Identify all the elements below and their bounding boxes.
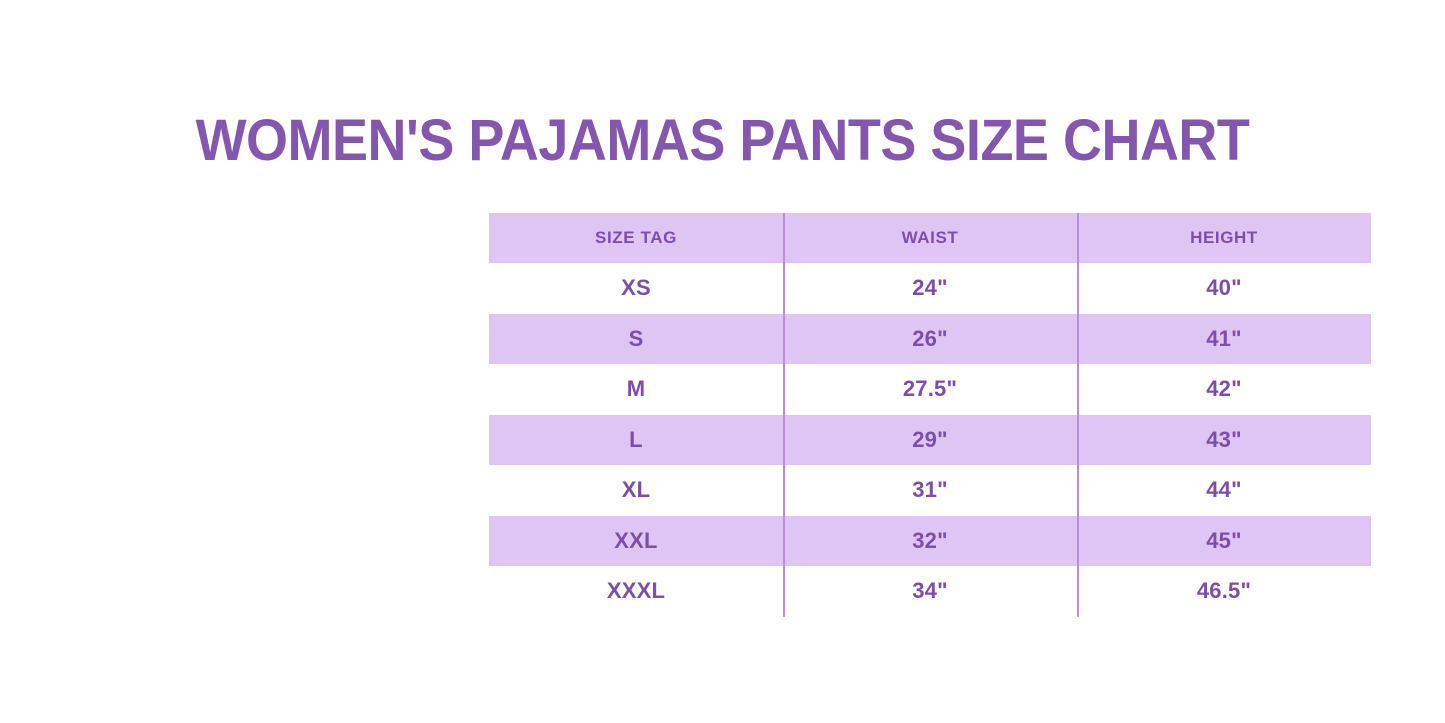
cell-waist: 34": [783, 566, 1077, 617]
cell-waist: 29": [783, 415, 1077, 466]
cell-height: 44": [1077, 465, 1371, 516]
cell-size-tag: L: [489, 415, 783, 466]
cell-waist: 27.5": [783, 364, 1077, 415]
cell-height: 40": [1077, 263, 1371, 314]
table-row: XS 24" 40": [489, 263, 1371, 314]
column-header-height: HEIGHT: [1077, 213, 1371, 263]
cell-waist: 26": [783, 314, 1077, 365]
column-header-size-tag: SIZE TAG: [489, 213, 783, 263]
cell-height: 42": [1077, 364, 1371, 415]
table-row: L 29" 43": [489, 415, 1371, 466]
cell-size-tag: XS: [489, 263, 783, 314]
size-chart-page: WOMEN'S PAJAMAS PANTS SIZE CHART SIZE TA…: [0, 0, 1445, 723]
cell-size-tag: XXL: [489, 516, 783, 567]
column-divider-right: [1077, 213, 1079, 617]
cell-size-tag: XXXL: [489, 566, 783, 617]
cell-size-tag: S: [489, 314, 783, 365]
cell-height: 41": [1077, 314, 1371, 365]
cell-height: 43": [1077, 415, 1371, 466]
table-row: XXL 32" 45": [489, 516, 1371, 567]
cell-height: 45": [1077, 516, 1371, 567]
column-header-waist: WAIST: [783, 213, 1077, 263]
cell-waist: 32": [783, 516, 1077, 567]
cell-waist: 24": [783, 263, 1077, 314]
table-row: XL 31" 44": [489, 465, 1371, 516]
cell-height: 46.5": [1077, 566, 1371, 617]
table-header-row: SIZE TAG WAIST HEIGHT: [489, 213, 1371, 263]
cell-size-tag: M: [489, 364, 783, 415]
cell-size-tag: XL: [489, 465, 783, 516]
column-divider-left: [783, 213, 785, 617]
table-row: M 27.5" 42": [489, 364, 1371, 415]
table-row: XXXL 34" 46.5": [489, 566, 1371, 617]
cell-waist: 31": [783, 465, 1077, 516]
size-chart-table: SIZE TAG WAIST HEIGHT XS 24" 40" S 26" 4…: [489, 213, 1371, 617]
table-row: S 26" 41": [489, 314, 1371, 365]
page-title: WOMEN'S PAJAMAS PANTS SIZE CHART: [51, 105, 1395, 177]
